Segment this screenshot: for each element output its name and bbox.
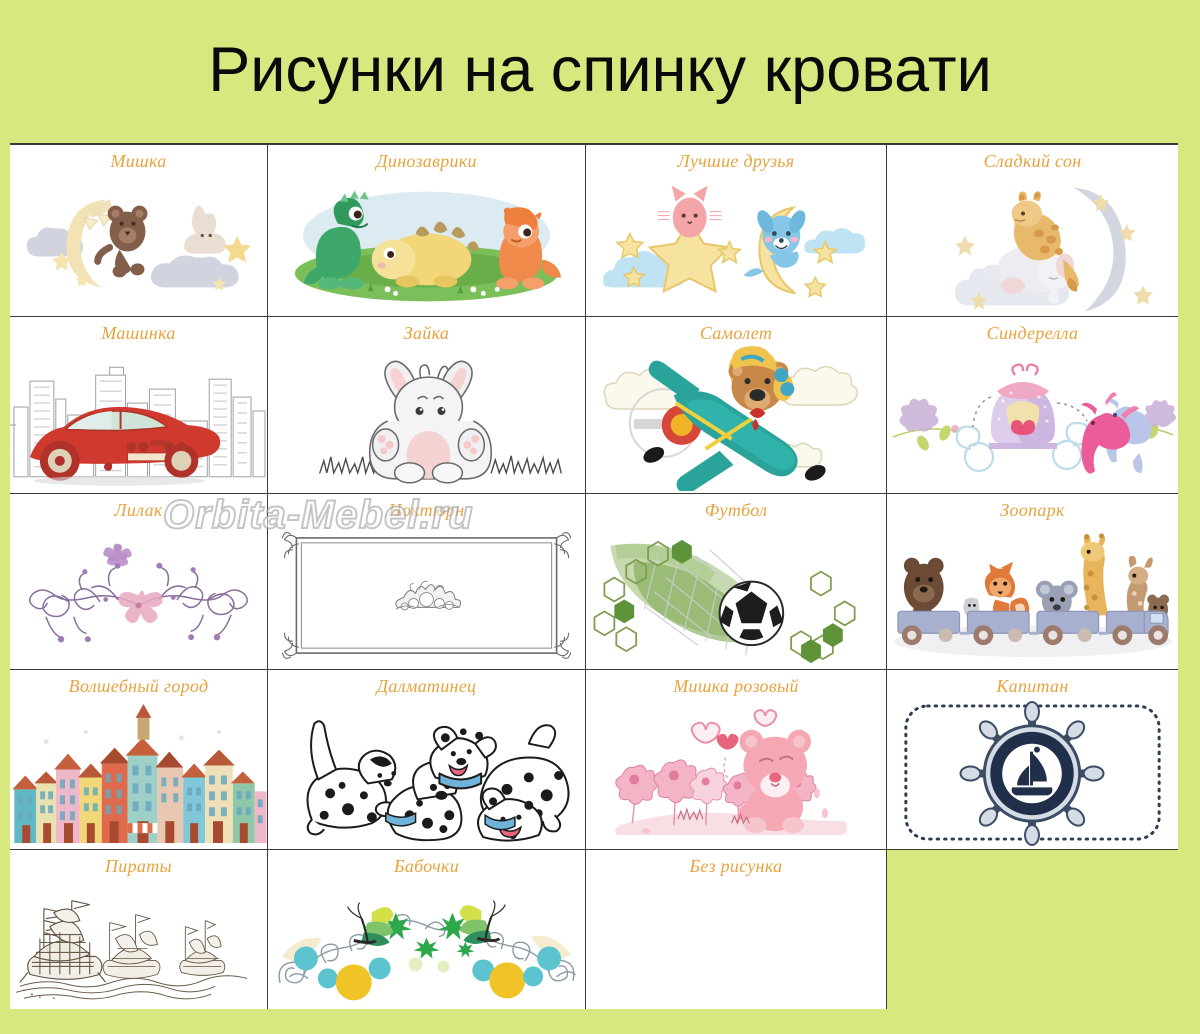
art-pirate-ships [10,878,267,1007]
grid-cell-futbol[interactable]: Футбол [586,494,887,670]
cell-label: Зоопарк [887,500,1178,521]
art-ships-wheel [887,698,1178,847]
grid-cell-volshebnyy-gorod[interactable]: Волшебный город [10,670,268,850]
cell-label: Синдерелла [887,323,1178,344]
grid-cell-lilak[interactable]: Лилак [10,494,268,670]
cell-label: Далматинец [268,676,585,697]
art-nocturne-frame [268,522,585,667]
grid-cell-kapitan[interactable]: Капитан [887,670,1178,850]
art-fairy-town [10,698,267,847]
cell-label: Мишка розовый [586,676,886,697]
grid-cell-mishka-rozovyy[interactable]: Мишка розовый [586,670,887,850]
cell-label: Ноктюрн [268,500,585,521]
art-bear-airplane [586,345,886,491]
cell-label: Лилак [10,500,267,521]
cell-label: Без рисунка [586,856,886,877]
cell-label: Динозаврики [268,151,585,172]
art-red-car-city [10,345,267,491]
pattern-grid: Мишка [10,143,1178,1009]
grid-cell-mashinka[interactable]: Машинка [10,317,268,494]
art-soccer [586,522,886,667]
page-title: Рисунки на спинку кровати [0,0,1200,140]
poster-page: Рисунки на спинку кровати Мишка [0,0,1200,1034]
art-dalmatians [268,698,585,847]
grid-cell-zayka[interactable]: Зайка [268,317,586,494]
grid-cell-zoopark[interactable]: Зоопарк [887,494,1178,670]
grid-cell-empty [887,850,1178,1009]
cell-label: Сладкий сон [887,151,1178,172]
cell-label: Волшебный город [10,676,267,697]
cell-label: Самолет [586,323,886,344]
cell-label: Футбол [586,500,886,521]
art-dinosaurs [268,173,585,314]
cell-label: Капитан [887,676,1178,697]
grid-cell-noktyurn[interactable]: Ноктюрн [268,494,586,670]
art-cinderella-carriage [887,345,1178,491]
grid-cell-bez-risunka[interactable]: Без рисунка [586,850,887,1009]
grid-cell-samolet[interactable]: Самолет [586,317,887,494]
grid-cell-dinozavriki[interactable]: Динозаврики [268,145,586,317]
art-pink-teddy-flowers [586,698,886,847]
cell-label: Мишка [10,151,267,172]
art-butterflies [268,878,585,1007]
cell-label: Зайка [268,323,585,344]
art-lilac-ornament [10,522,267,667]
grid-cell-luchshie-druzya[interactable]: Лучшие друзья [586,145,887,317]
art-cat-and-dog [586,173,886,314]
cell-label: Машинка [10,323,267,344]
grid-cell-dalmatinets[interactable]: Далматинец [268,670,586,850]
cell-label: Бабочки [268,856,585,877]
grid-cell-mishka[interactable]: Мишка [10,145,268,317]
grid-cell-piraty[interactable]: Пираты [10,850,268,1009]
grid-cell-babochki[interactable]: Бабочки [268,850,586,1009]
grid-cell-sladkiy-son[interactable]: Сладкий сон [887,145,1178,317]
art-bunny [268,345,585,491]
cell-label: Лучшие друзья [586,151,886,172]
art-animal-train [887,522,1178,667]
cell-label: Пираты [10,856,267,877]
art-bear-moon-bunny [10,173,267,314]
grid-cell-sinderella[interactable]: Синдерелла [887,317,1178,494]
art-giraffe-elephant-moon [887,173,1178,314]
